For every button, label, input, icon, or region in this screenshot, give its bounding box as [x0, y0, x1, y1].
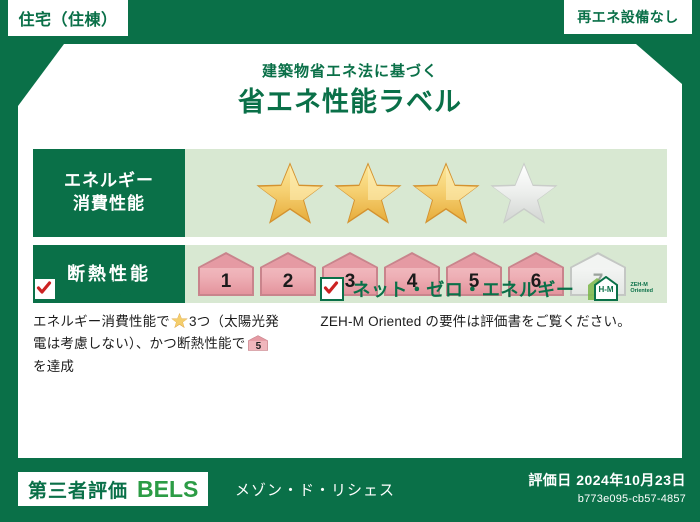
tab-renewable-equipment-label: 再エネ設備なし: [577, 7, 679, 27]
house-icon-inline: 5: [247, 334, 269, 352]
footer: 第三者評価 BELS メゾン・ド・リシェス 評価日 2024年10月23日 b7…: [0, 462, 700, 522]
note-nze-body: ZEH-M Oriented の要件は評価書をご覧ください。: [320, 311, 653, 333]
zeh-m-logo-sub2: Oriented: [630, 289, 653, 295]
row-energy-body: [185, 149, 667, 237]
evaluation-date: 評価日 2024年10月23日: [528, 470, 686, 490]
tab-renewable-equipment: 再エネ設備なし: [564, 0, 692, 34]
star-icon-filled-2: [333, 159, 403, 227]
note-net-zero-energy: ネット・ゼロ・エネルギー H-M ZEH-M Oriented ZEH-M: [298, 276, 667, 396]
title-block: 建築物省エネ法に基づく 省エネ性能ラベル: [18, 64, 682, 117]
note-nze-title: ネット・ゼロ・エネルギー: [352, 276, 574, 302]
note-zeh-head: ZEH水準: [33, 276, 284, 302]
star-icon-inline: [171, 312, 188, 329]
bels-energy-label: 住宅（住棟） 再エネ設備なし 建築物省エネ法に基づく 省エネ性能ラベル エネルギ…: [0, 0, 700, 522]
row-energy-performance: エネルギー 消費性能: [33, 149, 667, 237]
star-rating: [185, 159, 559, 227]
note-zeh-body-post: を達成: [33, 359, 74, 374]
star-icon-filled-3: [411, 159, 481, 227]
note-nze-head: ネット・ゼロ・エネルギー H-M ZEH-M Oriented: [320, 276, 653, 302]
bels-jp-label: 第三者評価: [28, 476, 128, 503]
notes-section: ZEH水準 エネルギー消費性能で3つ（太陽光発電は考慮しない）、かつ断熱性能で5…: [33, 276, 667, 396]
note-zeh-body-pre: エネルギー消費性能で: [33, 314, 170, 329]
check-icon-zeh: [33, 277, 57, 301]
evaluation-id: b773e095-cb57-4857: [528, 493, 686, 505]
svg-text:H-M: H-M: [599, 285, 614, 294]
tab-building-type-label: 住宅（住棟）: [18, 6, 117, 30]
row-energy-label-line2: 消費性能: [73, 193, 145, 216]
note-zeh-standard: ZEH水準 エネルギー消費性能で3つ（太陽光発電は考慮しない）、かつ断熱性能で5…: [33, 276, 298, 396]
star-icon-filled-1: [255, 159, 325, 227]
bels-en-label: BELS: [137, 476, 198, 503]
label-card: 建築物省エネ法に基づく 省エネ性能ラベル エネルギー 消費性能: [18, 44, 682, 458]
note-zeh-title: ZEH水準: [65, 276, 140, 302]
note-zeh-body: エネルギー消費性能で3つ（太陽光発電は考慮しない）、かつ断熱性能で5を達成: [33, 311, 284, 378]
tab-building-type: 住宅（住棟）: [8, 0, 128, 36]
house-inline-number: 5: [247, 342, 269, 352]
row-energy-label-line1: エネルギー: [64, 170, 154, 193]
row-energy-label: エネルギー 消費性能: [33, 149, 185, 237]
check-icon-net-zero: [320, 277, 344, 301]
evaluation-info: 評価日 2024年10月23日 b773e095-cb57-4857: [528, 470, 686, 505]
bels-badge: 第三者評価 BELS: [18, 472, 208, 506]
building-name: メゾン・ド・リシェス: [235, 479, 395, 500]
zeh-m-oriented-logo: H-M ZEH-M Oriented: [586, 276, 653, 302]
title-subtitle: 建築物省エネ法に基づく: [18, 64, 682, 81]
page-title: 省エネ性能ラベル: [18, 88, 682, 118]
star-icon-empty-4: [489, 159, 559, 227]
